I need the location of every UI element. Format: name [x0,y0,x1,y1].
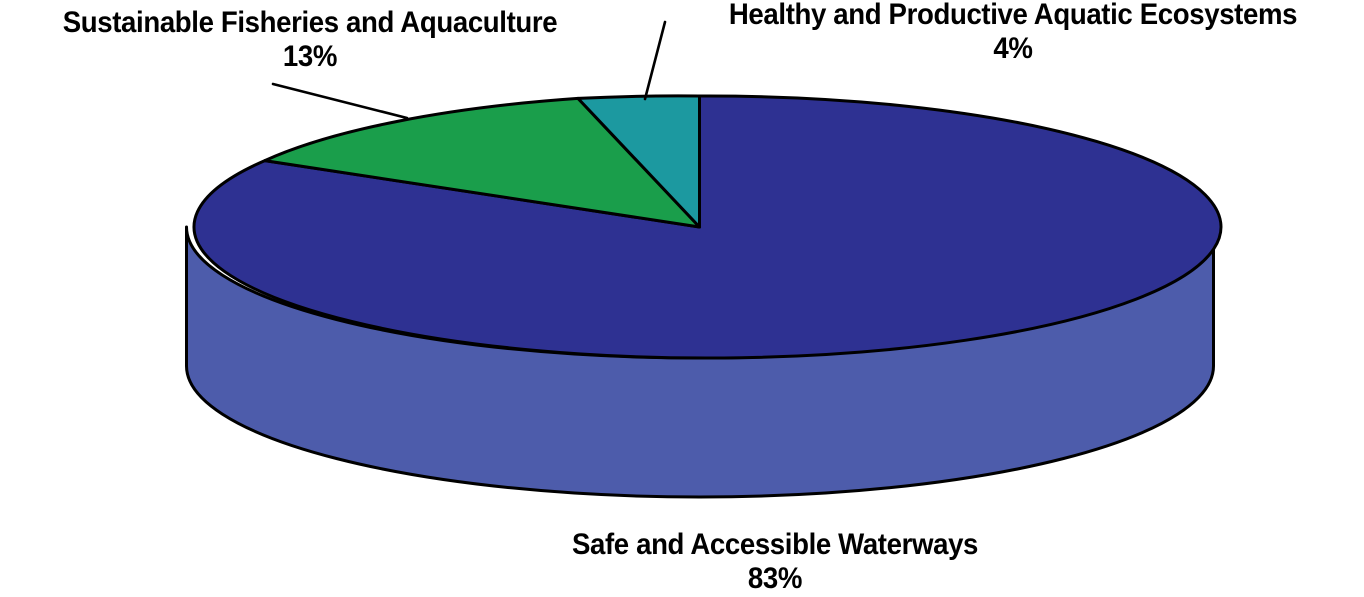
pie-chart: Sustainable Fisheries and Aquaculture 13… [0,0,1364,597]
slice-label-fisheries-percent: 13% [25,40,595,74]
leader-line-fisheries [273,84,407,118]
pie-chart-graphic [0,0,1364,597]
slice-label-ecosystems-text: Healthy and Productive Aquatic Ecosystem… [729,0,1297,31]
slice-label-waterways: Safe and Accessible Waterways 83% [476,528,1074,595]
slice-label-ecosystems: Healthy and Productive Aquatic Ecosystem… [690,0,1336,65]
slice-label-fisheries: Sustainable Fisheries and Aquaculture 13… [25,6,595,73]
slice-label-fisheries-text: Sustainable Fisheries and Aquaculture [63,6,558,39]
slice-label-ecosystems-percent: 4% [690,32,1336,66]
slice-label-waterways-text: Safe and Accessible Waterways [572,528,978,561]
leader-line-ecosystems [645,22,665,99]
slice-label-waterways-percent: 83% [476,562,1074,596]
